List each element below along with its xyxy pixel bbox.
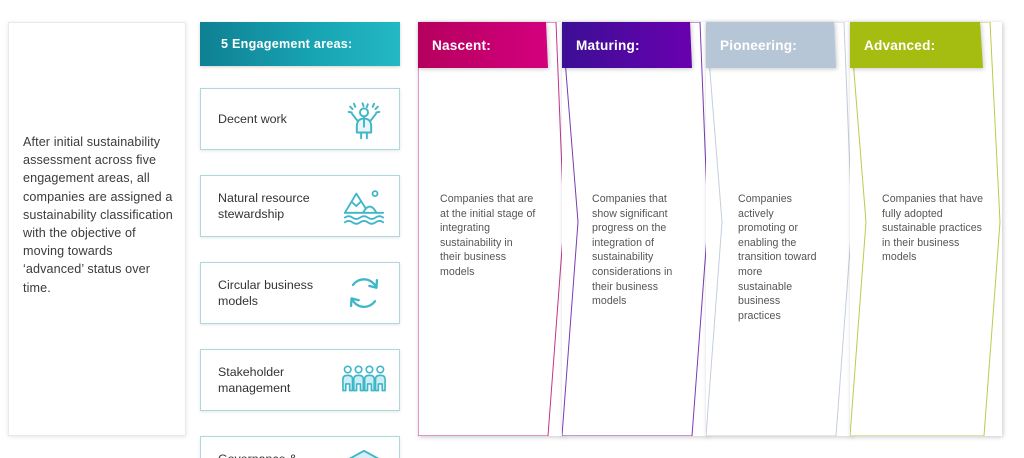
stage-panel-advanced[interactable]: Advanced: Companies that have fully adop… (850, 22, 1002, 436)
group-of-people-icon (341, 359, 387, 401)
stage-panel-nascent[interactable]: Nascent: Companies that are at the initi… (418, 22, 564, 436)
stage-header-maturing: Maturing: (562, 22, 708, 68)
engagement-area-natural-resource-stewardship[interactable]: Natural resource stewardship (200, 175, 400, 237)
stage-header-label: Maturing: (576, 22, 640, 68)
diagram-canvas: After initial sustainability assessment … (0, 0, 1024, 458)
stage-panel-pioneering[interactable]: Pioneering: Companies actively promoting… (706, 22, 852, 436)
person-celebrating-icon (341, 98, 387, 140)
recycle-arrows-icon (341, 272, 387, 314)
engagement-areas-header: 5 Engagement areas: (200, 22, 400, 66)
stage-header-advanced: Advanced: (850, 22, 1002, 68)
engagement-area-decent-work[interactable]: Decent work (200, 88, 400, 150)
engagement-area-label: Circular business models (218, 277, 328, 309)
engagement-area-label: Governance & policies (218, 451, 328, 458)
stage-description: Companies that show significant progress… (592, 192, 686, 309)
stage-description: Companies that have fully adopted sustai… (882, 192, 986, 265)
stage-panel-maturing[interactable]: Maturing: Companies that show significan… (562, 22, 708, 436)
stage-header-label: Nascent: (432, 22, 491, 68)
stage-header-nascent: Nascent: (418, 22, 564, 68)
engagement-area-label: Stakeholder management (218, 364, 328, 396)
engagement-area-stakeholder-management[interactable]: Stakeholder management (200, 349, 400, 411)
intro-text: After initial sustainability assessment … (23, 133, 175, 297)
engagement-area-circular-business-models[interactable]: Circular business models (200, 262, 400, 324)
stage-description: Companies that are at the initial stage … (440, 192, 536, 280)
mountain-water-icon (341, 185, 387, 227)
engagement-area-label: Natural resource stewardship (218, 190, 328, 222)
stage-header-pioneering: Pioneering: (706, 22, 852, 68)
classical-building-icon (341, 446, 387, 458)
engagement-areas-column: 5 Engagement areas: Decent work Natural … (200, 22, 400, 436)
stage-description: Companies actively promoting or enabling… (738, 192, 818, 323)
stage-header-label: Advanced: (864, 22, 935, 68)
engagement-areas-header-label: 5 Engagement areas: (221, 37, 352, 51)
intro-card: After initial sustainability assessment … (8, 22, 186, 436)
engagement-area-label: Decent work (218, 111, 328, 127)
engagement-area-governance-policies[interactable]: Governance & policies (200, 436, 400, 458)
stage-header-label: Pioneering: (720, 22, 797, 68)
